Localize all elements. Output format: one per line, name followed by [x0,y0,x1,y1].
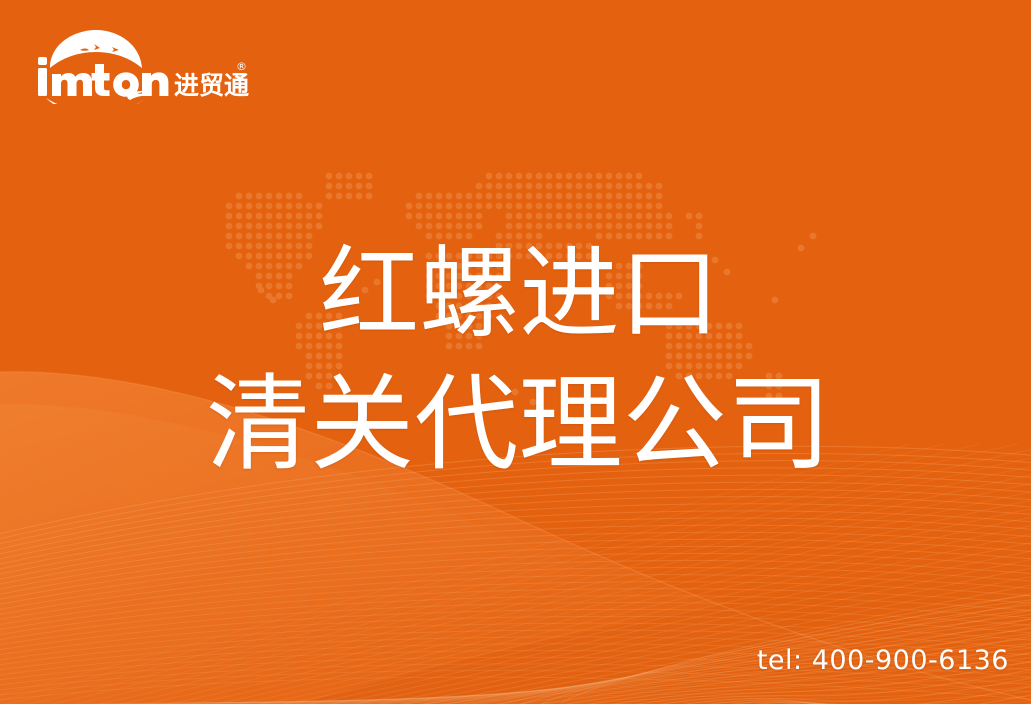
imton-logo[interactable]: 进贸通 ® [34,28,249,104]
registered-mark-icon: ® [236,60,247,73]
page-title: 红螺进口 清关代理公司 [0,236,1031,485]
logo-chinese-name: 进贸通 [174,71,249,100]
headline-line-1: 红螺进口 [0,236,1031,352]
logo-wordmark [38,57,168,97]
headline-line-2: 清关代理公司 [0,364,1031,485]
globe-dome-icon [50,30,142,68]
contact-phone-number: tel: 400-900-6136 [757,645,1009,676]
promo-poster: 进贸通 ® 红螺进口 清关代理公司 tel: 400-900-6136 [0,0,1031,704]
